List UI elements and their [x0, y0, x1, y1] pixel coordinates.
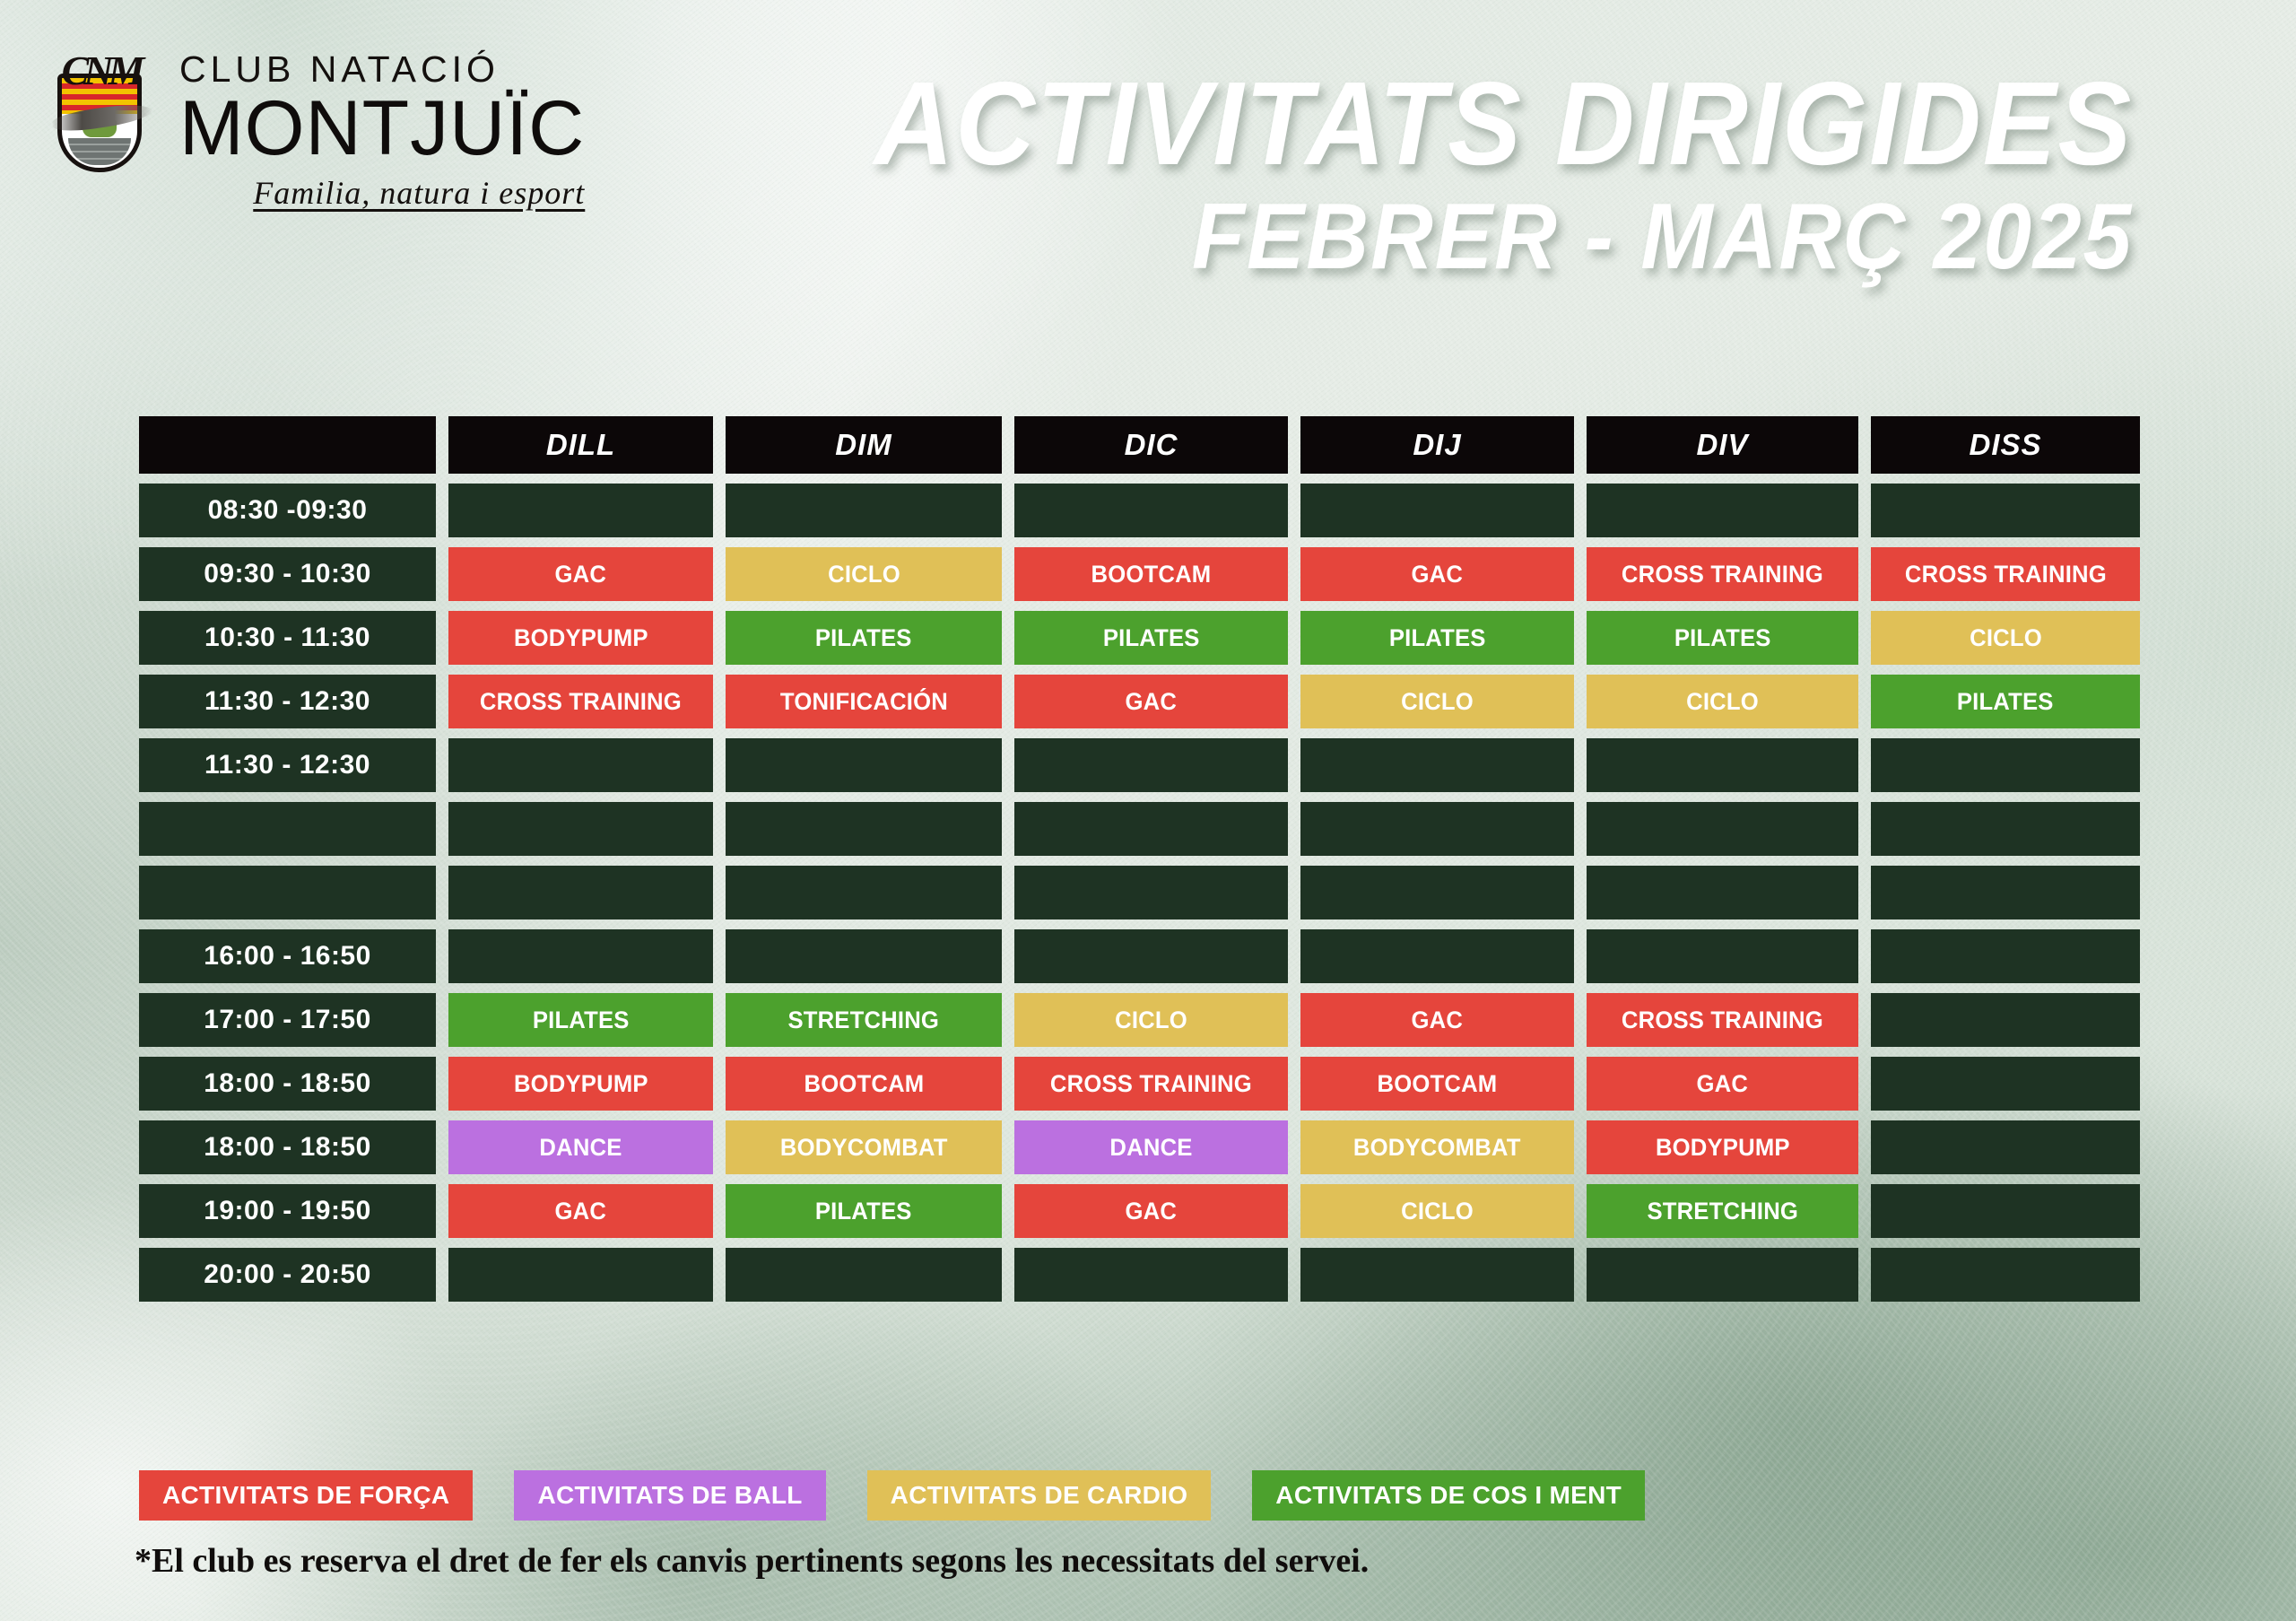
activity-label: CICLO [1401, 1198, 1474, 1225]
activity-label: DANCE [539, 1134, 622, 1162]
time-slot-label [139, 802, 436, 856]
schedule-header-row: DILLDIMDICDIJDIVDISS [139, 416, 2081, 474]
activity-label: CICLO [1401, 688, 1474, 716]
empty-cell [448, 866, 713, 919]
schedule-row: 16:00 - 16:50 [139, 929, 2081, 983]
empty-cell [448, 929, 713, 983]
empty-cell [448, 802, 713, 856]
activity-cell[interactable]: PILATES [448, 993, 713, 1047]
empty-cell [1014, 738, 1288, 792]
activity-label: BODYPUMP [1656, 1134, 1790, 1162]
activity-cell[interactable]: CICLO [1871, 611, 2140, 665]
empty-cell [1871, 993, 2140, 1047]
club-name-line2: MONTJUÏC [179, 92, 585, 165]
empty-cell [1014, 802, 1288, 856]
empty-cell [1300, 929, 1574, 983]
time-slot-label: 19:00 - 19:50 [139, 1184, 436, 1238]
activity-cell[interactable]: GAC [1014, 1184, 1288, 1238]
day-header-div: DIV [1587, 416, 1858, 474]
schedule-row: 10:30 - 11:30BODYPUMPPILATESPILATESPILAT… [139, 611, 2081, 665]
empty-cell [1587, 866, 1858, 919]
activity-cell[interactable]: CICLO [726, 547, 1002, 601]
activity-label: CICLO [1686, 688, 1759, 716]
activity-label: STRETCHING [1647, 1198, 1798, 1225]
activity-label: GAC [1412, 1007, 1464, 1034]
empty-cell [1871, 802, 2140, 856]
empty-cell [1587, 738, 1858, 792]
activity-label: PILATES [1674, 624, 1771, 652]
empty-cell [1300, 866, 1574, 919]
legend: ACTIVITATS DE FORÇAACTIVITATS DE BALLACT… [139, 1470, 1645, 1521]
time-slot-label: 20:00 - 20:50 [139, 1248, 436, 1302]
empty-cell [1587, 929, 1858, 983]
day-header-dij: DIJ [1300, 416, 1574, 474]
activity-label: CICLO [828, 561, 900, 588]
schedule-row: 18:00 - 18:50BODYPUMPBOOTCAMCROSS TRAINI… [139, 1057, 2081, 1111]
schedule-corner-cell [139, 416, 436, 474]
activity-label: GAC [1126, 1198, 1178, 1225]
schedule-row: 20:00 - 20:50 [139, 1248, 2081, 1302]
activity-label: PILATES [1389, 624, 1486, 652]
activity-label: PILATES [815, 624, 912, 652]
empty-cell [1014, 929, 1288, 983]
time-slot-label: 10:30 - 11:30 [139, 611, 436, 665]
empty-cell [448, 1248, 713, 1302]
activity-cell[interactable]: GAC [448, 547, 713, 601]
activity-label: GAC [1412, 561, 1464, 588]
activity-cell[interactable]: PILATES [1871, 675, 2140, 728]
time-slot-label: 16:00 - 16:50 [139, 929, 436, 983]
empty-cell [1014, 866, 1288, 919]
activity-label: PILATES [1103, 624, 1200, 652]
activity-label: BODYPUMP [514, 1070, 648, 1098]
activity-cell[interactable]: CICLO [1300, 1184, 1574, 1238]
activity-cell[interactable]: GAC [1587, 1057, 1858, 1111]
activity-cell[interactable]: BOOTCAM [726, 1057, 1002, 1111]
activity-label: CROSS TRAINING [1050, 1070, 1252, 1098]
activity-label: BODYCOMBAT [1353, 1134, 1521, 1162]
empty-cell [1871, 1057, 2140, 1111]
time-slot-label: 17:00 - 17:50 [139, 993, 436, 1047]
activity-label: CROSS TRAINING [480, 688, 682, 716]
empty-cell [726, 738, 1002, 792]
activity-cell[interactable]: TONIFICACIÓN [726, 675, 1002, 728]
activity-cell[interactable]: DANCE [448, 1120, 713, 1174]
activity-cell[interactable]: PILATES [726, 1184, 1002, 1238]
empty-cell [1871, 929, 2140, 983]
empty-cell [726, 866, 1002, 919]
empty-cell [726, 484, 1002, 537]
schedule-row: 19:00 - 19:50GACPILATESGACCICLOSTRETCHIN… [139, 1184, 2081, 1238]
empty-cell [1871, 1248, 2140, 1302]
activity-label: BODYCOMBAT [780, 1134, 948, 1162]
activity-cell[interactable]: CROSS TRAINING [1587, 547, 1858, 601]
activity-cell[interactable]: BOOTCAM [1300, 1057, 1574, 1111]
time-slot-label: 11:30 - 12:30 [139, 738, 436, 792]
activity-cell[interactable]: GAC [1014, 675, 1288, 728]
activity-label: CROSS TRAINING [1622, 1007, 1823, 1034]
activity-cell[interactable]: BODYCOMBAT [726, 1120, 1002, 1174]
day-header-dim: DIM [726, 416, 1002, 474]
schedule-row: 11:30 - 12:30CROSS TRAININGTONIFICACIÓNG… [139, 675, 2081, 728]
club-branding: CNM CLUB NATACIÓ MONTJUÏC Familia, natur… [47, 43, 585, 212]
club-crest-icon: CNM [47, 43, 156, 176]
activity-label: STRETCHING [788, 1007, 940, 1034]
legend-item-ball: ACTIVITATS DE BALL [514, 1470, 825, 1521]
legend-item-cardio: ACTIVITATS DE CARDIO [867, 1470, 1212, 1521]
activity-label: PILATES [815, 1198, 912, 1225]
empty-cell [1300, 738, 1574, 792]
activity-cell[interactable]: STRETCHING [726, 993, 1002, 1047]
crest-monogram: CNM [50, 43, 151, 99]
schedule-row: 09:30 - 10:30GACCICLOBOOTCAMGACCROSS TRA… [139, 547, 2081, 601]
footnote: *El club es reserva el dret de fer els c… [135, 1541, 1369, 1581]
schedule-row: 08:30 -09:30 [139, 484, 2081, 537]
activity-label: CROSS TRAINING [1905, 561, 2107, 588]
empty-cell [1587, 484, 1858, 537]
empty-cell [1871, 738, 2140, 792]
activity-cell[interactable]: PILATES [726, 611, 1002, 665]
club-name-line1: CLUB NATACIÓ [179, 48, 585, 91]
schedule-row [139, 802, 2081, 856]
empty-cell [448, 484, 713, 537]
activity-label: PILATES [533, 1007, 630, 1034]
page-title: ACTIVITATS DIRIGIDES [874, 65, 2133, 183]
schedule-row: 11:30 - 12:30 [139, 738, 2081, 792]
time-slot-label: 11:30 - 12:30 [139, 675, 436, 728]
activity-label: GAC [555, 561, 607, 588]
activity-label: BOOTCAM [1378, 1070, 1498, 1098]
empty-cell [448, 738, 713, 792]
poster-header: CNM CLUB NATACIÓ MONTJUÏC Familia, natur… [0, 0, 2296, 395]
empty-cell [1871, 484, 2140, 537]
activity-label: CROSS TRAINING [1622, 561, 1823, 588]
empty-cell [1871, 1184, 2140, 1238]
day-header-dill: DILL [448, 416, 713, 474]
empty-cell [726, 1248, 1002, 1302]
activity-cell[interactable]: CROSS TRAINING [1014, 1057, 1288, 1111]
time-slot-label: 08:30 -09:30 [139, 484, 436, 537]
activity-cell[interactable]: BODYCOMBAT [1300, 1120, 1574, 1174]
club-tagline-text: Familia, natura i esport [253, 175, 585, 211]
activity-label: GAC [1126, 688, 1178, 716]
activity-cell[interactable]: BODYPUMP [1587, 1120, 1858, 1174]
empty-cell [1014, 1248, 1288, 1302]
activity-cell[interactable]: CICLO [1587, 675, 1858, 728]
page-subtitle: FEBRER - MARÇ 2025 [874, 188, 2133, 286]
activity-cell[interactable]: BODYPUMP [448, 611, 713, 665]
poster: CNM CLUB NATACIÓ MONTJUÏC Familia, natur… [0, 0, 2296, 1621]
day-header-dic: DIC [1014, 416, 1288, 474]
time-slot-label: 18:00 - 18:50 [139, 1057, 436, 1111]
schedule-row: 17:00 - 17:50PILATESSTRETCHINGCICLOGACCR… [139, 993, 2081, 1047]
empty-cell [1587, 1248, 1858, 1302]
empty-cell [726, 929, 1002, 983]
schedule-row [139, 866, 2081, 919]
activity-label: CICLO [1970, 624, 2042, 652]
club-name-block: CLUB NATACIÓ MONTJUÏC Familia, natura i … [179, 43, 585, 212]
activity-label: TONIFICACIÓN [779, 688, 947, 716]
activity-cell[interactable]: DANCE [1014, 1120, 1288, 1174]
poster-title-block: ACTIVITATS DIRIGIDES FEBRER - MARÇ 2025 [779, 65, 2133, 286]
legend-item-force: ACTIVITATS DE FORÇA [139, 1470, 473, 1521]
empty-cell [1014, 484, 1288, 537]
activity-cell[interactable]: GAC [1300, 993, 1574, 1047]
activity-label: BOOTCAM [1091, 561, 1212, 588]
schedule-table: DILLDIMDICDIJDIVDISS08:30 -09:3009:30 - … [139, 416, 2081, 1312]
crest-brick-pattern [68, 138, 132, 165]
activity-cell[interactable]: CROSS TRAINING [448, 675, 713, 728]
club-tagline: Familia, natura i esport [179, 174, 585, 212]
activity-label: GAC [1697, 1070, 1749, 1098]
empty-cell [1300, 1248, 1574, 1302]
activity-cell[interactable]: STRETCHING [1587, 1184, 1858, 1238]
time-slot-label: 18:00 - 18:50 [139, 1120, 436, 1174]
activity-label: PILATES [1957, 688, 2054, 716]
empty-cell [1300, 484, 1574, 537]
empty-cell [726, 802, 1002, 856]
activity-cell[interactable]: BODYPUMP [448, 1057, 713, 1111]
empty-cell [1871, 1120, 2140, 1174]
activity-label: BODYPUMP [514, 624, 648, 652]
empty-cell [1871, 866, 2140, 919]
empty-cell [1300, 802, 1574, 856]
activity-cell[interactable]: CROSS TRAINING [1587, 993, 1858, 1047]
activity-label: BOOTCAM [804, 1070, 924, 1098]
activity-cell[interactable]: GAC [448, 1184, 713, 1238]
activity-cell[interactable]: PILATES [1014, 611, 1288, 665]
empty-cell [1587, 802, 1858, 856]
activity-cell[interactable]: CICLO [1014, 993, 1288, 1047]
day-header-diss: DISS [1871, 416, 2140, 474]
activity-cell[interactable]: CICLO [1300, 675, 1574, 728]
time-slot-label [139, 866, 436, 919]
activity-cell[interactable]: PILATES [1587, 611, 1858, 665]
activity-label: GAC [555, 1198, 607, 1225]
legend-item-mind: ACTIVITATS DE COS I MENT [1252, 1470, 1645, 1521]
activity-cell[interactable]: PILATES [1300, 611, 1574, 665]
time-slot-label: 09:30 - 10:30 [139, 547, 436, 601]
activity-cell[interactable]: CROSS TRAINING [1871, 547, 2140, 601]
activity-label: CICLO [1115, 1007, 1187, 1034]
schedule-row: 18:00 - 18:50DANCEBODYCOMBATDANCEBODYCOM… [139, 1120, 2081, 1174]
activity-label: DANCE [1109, 1134, 1192, 1162]
activity-cell[interactable]: GAC [1300, 547, 1574, 601]
activity-cell[interactable]: BOOTCAM [1014, 547, 1288, 601]
